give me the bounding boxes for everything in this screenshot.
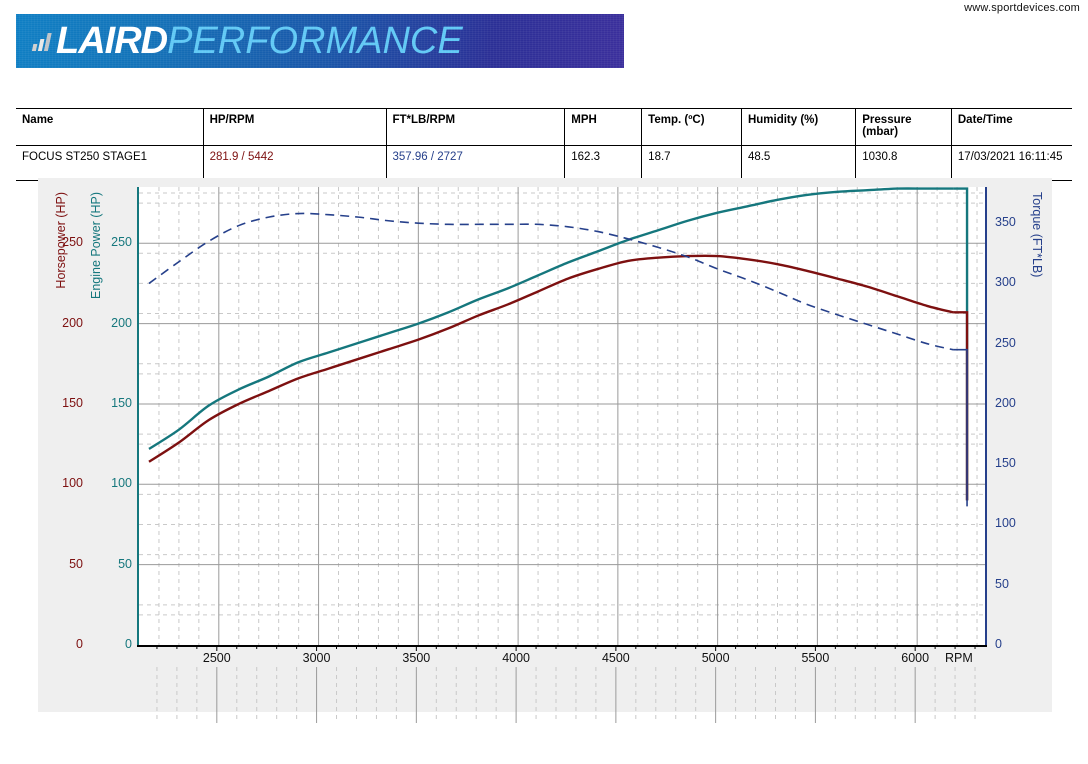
y-tick-horsepower-50: 50 [43, 557, 83, 571]
y-tick-torque-50: 50 [995, 577, 1035, 591]
cell-humidity: 48.5 [741, 146, 855, 181]
run-summary-table: Name HP/RPM FT*LB/RPM MPH Temp. (ºC) Hum… [16, 108, 1072, 181]
series-dropoff [953, 350, 967, 507]
x-axis-ticks [137, 645, 997, 655]
cell-mph: 162.3 [565, 146, 642, 181]
series-dropoff [953, 189, 967, 501]
grid-minor [139, 187, 987, 645]
grid-major [139, 187, 987, 645]
y-tick-horsepower-0: 0 [43, 637, 83, 651]
cell-ftlb-rpm: 357.96 / 2727 [386, 146, 565, 181]
column-header-pressure: Pressure (mbar) [856, 109, 952, 146]
y-tick-torque-100: 100 [995, 516, 1035, 530]
cell-name: FOCUS ST250 STAGE1 [16, 146, 203, 181]
bar-chart-icon [32, 31, 54, 51]
y-tick-horsepower-150: 150 [43, 396, 83, 410]
y-tick-torque-250: 250 [995, 336, 1035, 350]
column-header-mph: MPH [565, 109, 642, 146]
column-header-humidity: Humidity (%) [741, 109, 855, 146]
y-tick-engine-power-250: 250 [96, 235, 132, 249]
column-header-ftlb-rpm: FT*LB/RPM [386, 109, 565, 146]
y-tick-torque-0: 0 [995, 637, 1035, 651]
cell-temp: 18.7 [642, 146, 742, 181]
axis-title-torque: Torque (FT*LB) [1030, 192, 1044, 277]
plot-area [137, 187, 987, 645]
series-horsepower-hp- [149, 256, 953, 462]
column-header-name: Name [16, 109, 203, 146]
y-tick-torque-300: 300 [995, 275, 1035, 289]
below-axis-grid [137, 667, 997, 723]
logo-brand-text: LAIRD [56, 22, 167, 60]
y-tick-horsepower-200: 200 [43, 316, 83, 330]
y-tick-engine-power-50: 50 [96, 557, 132, 571]
cell-datetime: 17/03/2021 16:11:45 [951, 146, 1072, 181]
column-header-hp-rpm: HP/RPM [203, 109, 386, 146]
y-tick-torque-150: 150 [995, 456, 1035, 470]
laird-performance-logo: LAIRD PERFORMANCE [16, 14, 624, 68]
dyno-chart-panel: Horsepower (HP) Engine Power (HP) Torque… [38, 178, 1052, 712]
y-tick-engine-power-0: 0 [96, 637, 132, 651]
y-tick-torque-200: 200 [995, 396, 1035, 410]
right-axis-line [985, 187, 987, 646]
series-engine-power-hp- [149, 188, 953, 448]
y-tick-horsepower-250: 250 [43, 235, 83, 249]
logo-sub-text: PERFORMANCE [167, 22, 463, 60]
y-tick-torque-350: 350 [995, 215, 1035, 229]
y-tick-engine-power-100: 100 [96, 476, 132, 490]
y-tick-horsepower-100: 100 [43, 476, 83, 490]
table-header-row: Name HP/RPM FT*LB/RPM MPH Temp. (ºC) Hum… [16, 109, 1072, 146]
logo-inner: LAIRD PERFORMANCE [34, 21, 463, 61]
y-tick-engine-power-200: 200 [96, 316, 132, 330]
column-header-temp: Temp. (ºC) [642, 109, 742, 146]
cell-pressure: 1030.8 [856, 146, 952, 181]
table-row: FOCUS ST250 STAGE1 281.9 / 5442 357.96 /… [16, 146, 1072, 181]
site-url: www.sportdevices.com [964, 2, 1080, 14]
series-dropoff [953, 312, 967, 500]
column-header-datetime: Date/Time [951, 109, 1072, 146]
series-torque-ft-lb- [149, 213, 953, 349]
cell-hp-rpm: 281.9 / 5442 [203, 146, 386, 181]
chart-svg [139, 187, 987, 645]
y-tick-engine-power-150: 150 [96, 396, 132, 410]
